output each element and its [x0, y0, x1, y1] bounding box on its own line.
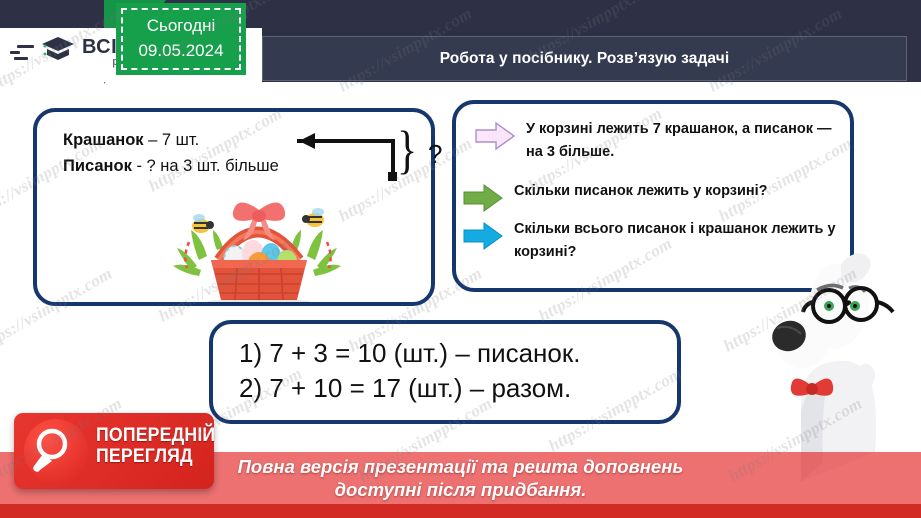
- dog-character-illustration: [767, 232, 917, 482]
- slide-canvas: ВСІМ pptx Сьогодні 09.05.2024 Робота у п…: [0, 0, 921, 518]
- today-date-chip: Сьогодні 09.05.2024: [116, 3, 246, 75]
- today-value: 09.05.2024: [138, 39, 223, 64]
- bee-icon-right: [302, 208, 324, 227]
- question-text-2: Скільки писанок лежить у корзині?: [514, 180, 768, 203]
- magnifier-icon: [24, 419, 88, 483]
- preview-badge-line-2: ПЕРЕГЛЯД: [96, 447, 215, 468]
- page-title: Робота у посібнику. Розв’язую задачі: [440, 50, 730, 68]
- problem-condition-box: Крашанок – 7 шт. Писанок - ? на 3 шт. бі…: [33, 108, 435, 306]
- slide-title-plate: Робота у посібнику. Розв’язую задачі: [262, 36, 907, 81]
- easter-basket-illustration: [149, 190, 369, 304]
- problem-condition-text: Крашанок – 7 шт. Писанок - ? на 3 шт. бі…: [63, 128, 279, 179]
- solution-line-1: 1) 7 + 3 = 10 (шт.) – писанок.: [239, 336, 580, 371]
- condition-line-1: Крашанок – 7 шт.: [63, 128, 279, 154]
- blue-arrow-icon: [462, 221, 504, 256]
- condition-line-1-label: Крашанок: [63, 131, 144, 149]
- preview-badge[interactable]: ПОПЕРЕДНІЙ ПЕРЕГЛЯД: [14, 413, 214, 489]
- question-row-2: Скільки писанок лежить у корзині?: [462, 180, 848, 218]
- pink-arrow-icon: [474, 121, 516, 156]
- bee-icon-left: [192, 214, 214, 233]
- condition-line-2-label: Писанок: [63, 157, 132, 175]
- promo-line-2: доступні після придбання.: [335, 478, 587, 501]
- question-text-1: У корзині лежить 7 крашанок, а писанок —…: [526, 118, 846, 165]
- grouping-brace: }: [397, 125, 417, 178]
- solution-box: 1) 7 + 3 = 10 (шт.) – писанок. 2) 7 + 10…: [209, 320, 681, 424]
- solution-lines: 1) 7 + 3 = 10 (шт.) – писанок. 2) 7 + 10…: [239, 336, 580, 407]
- graduation-cap-icon: [39, 33, 77, 72]
- green-arrow-icon: [462, 183, 504, 218]
- condition-line-1-value: – 7 шт.: [144, 131, 200, 149]
- solution-line-2: 2) 7 + 10 = 17 (шт.) – разом.: [239, 371, 580, 406]
- promo-bottom-bar: [0, 504, 921, 518]
- today-label: Сьогодні: [147, 14, 216, 39]
- total-question-mark: ?: [428, 139, 442, 170]
- question-row-1: У корзині лежить 7 крашанок, а писанок —…: [474, 118, 846, 165]
- condition-line-2: Писанок - ? на 3 шт. більше: [63, 154, 279, 180]
- preview-badge-line-1: ПОПЕРЕДНІЙ: [96, 426, 215, 447]
- logo-speed-lines-icon: [10, 45, 34, 60]
- preview-badge-text: ПОПЕРЕДНІЙ ПЕРЕГЛЯД: [96, 426, 224, 467]
- condition-line-2-value: - ? на 3 шт. більше: [132, 157, 279, 175]
- promo-line-1: Повна версія презентації та решта доповн…: [238, 455, 684, 478]
